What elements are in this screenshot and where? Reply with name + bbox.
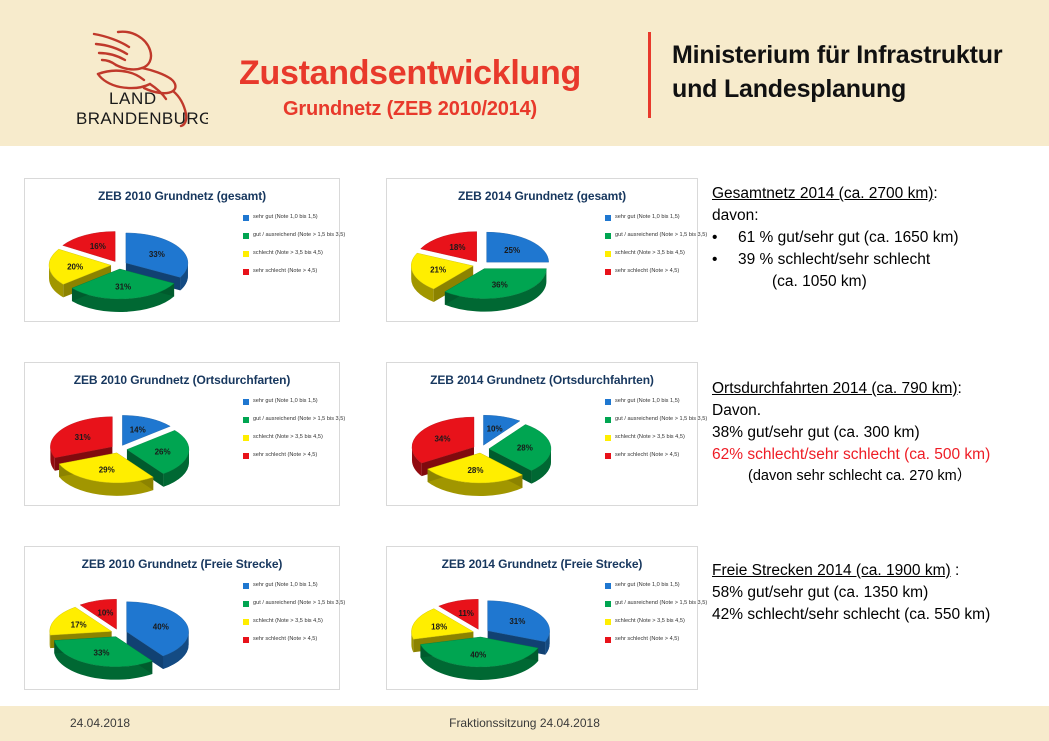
pie-data-label: 31% xyxy=(115,282,131,291)
legend-item-sehr-gut[interactable]: sehr gut (Note 1,0 bis 1,5) xyxy=(605,581,725,589)
legend-swatch-icon xyxy=(243,453,249,459)
legend-item-gut-ausreichend[interactable]: gut / ausreichend (Note > 1,5 bis 3,5) xyxy=(243,599,363,607)
note-ortsdurchfahrten-davon: Davon. xyxy=(712,400,1042,422)
pie-data-label: 14% xyxy=(130,426,146,435)
chart-legend: sehr gut (Note 1,0 bis 1,5)gut / ausreic… xyxy=(243,581,363,653)
brandenburg-logo: LAND BRANDENBURG xyxy=(76,22,208,134)
legend-label: schlecht (Note > 3,5 bis 4,5) xyxy=(253,433,323,441)
chart-card-1: ZEB 2014 Grundnetz (gesamt)25%36%21%18%s… xyxy=(386,178,698,322)
ministry-line-2: und Landesplanung xyxy=(672,72,1042,106)
legend-label: gut / ausreichend (Note > 1,5 bis 3,5) xyxy=(253,231,345,239)
pie-data-label: 34% xyxy=(434,435,450,444)
legend-label: sehr schlecht (Note > 4,5) xyxy=(253,635,317,643)
note-freie-strecken: Freie Strecken 2014 (ca. 1900 km) : 58% … xyxy=(712,560,1042,626)
pie-data-label: 10% xyxy=(97,609,113,618)
legend-swatch-icon xyxy=(243,233,249,239)
chart-card-3: ZEB 2014 Grundnetz (Ortsdurchfahrten)10%… xyxy=(386,362,698,506)
pie-data-label: 28% xyxy=(517,444,533,453)
pie-data-label: 10% xyxy=(487,425,503,434)
legend-item-sehr-gut[interactable]: sehr gut (Note 1,0 bis 1,5) xyxy=(243,213,363,221)
legend-item-schlecht[interactable]: schlecht (Note > 3,5 bis 4,5) xyxy=(605,617,725,625)
legend-label: sehr gut (Note 1,0 bis 1,5) xyxy=(253,581,318,589)
pie-chart: 33%31%20%16% xyxy=(31,209,237,324)
pie-chart: 14%26%29%31% xyxy=(31,393,237,508)
chart-card-2: ZEB 2010 Grundnetz (Ortsdurchfarten)14%2… xyxy=(24,362,340,506)
pie-data-label: 31% xyxy=(509,617,525,626)
legend-swatch-icon xyxy=(605,619,611,625)
header-bottom-rule xyxy=(0,146,1049,149)
pie-data-label: 18% xyxy=(431,622,447,631)
legend-swatch-icon xyxy=(605,251,611,257)
pie-chart: 10%28%28%34% xyxy=(393,393,599,508)
chart-legend: sehr gut (Note 1,0 bis 1,5)gut / ausreic… xyxy=(243,213,363,285)
legend-item-sehr-schlecht[interactable]: sehr schlecht (Note > 4,5) xyxy=(605,267,725,275)
legend-swatch-icon xyxy=(243,435,249,441)
legend-item-schlecht[interactable]: schlecht (Note > 3,5 bis 4,5) xyxy=(605,433,725,441)
bullet-icon: • xyxy=(712,227,738,249)
legend-label: schlecht (Note > 3,5 bis 4,5) xyxy=(615,433,685,441)
legend-item-sehr-schlecht[interactable]: sehr schlecht (Note > 4,5) xyxy=(605,635,725,643)
legend-label: sehr schlecht (Note > 4,5) xyxy=(615,451,679,459)
note-gesamtnetz-heading-text: Gesamtnetz 2014 (ca. 2700 km) xyxy=(712,185,933,202)
logo-line2: BRANDENBURG xyxy=(76,109,208,128)
legend-swatch-icon xyxy=(605,435,611,441)
chart-title: ZEB 2014 Grundnetz (Freie Strecke) xyxy=(387,557,697,571)
note-ortsdurchfahrten-line-2: 62% schlecht/sehr schlecht (ca. 500 km) xyxy=(712,444,1042,466)
legend-label: sehr gut (Note 1,0 bis 1,5) xyxy=(615,213,680,221)
chart-legend: sehr gut (Note 1,0 bis 1,5)gut / ausreic… xyxy=(605,213,725,285)
legend-item-sehr-schlecht[interactable]: sehr schlecht (Note > 4,5) xyxy=(243,267,363,275)
legend-swatch-icon xyxy=(243,215,249,221)
note-ortsdurchfahrten-colon: : xyxy=(958,380,962,397)
chart-legend: sehr gut (Note 1,0 bis 1,5)gut / ausreic… xyxy=(605,397,725,469)
legend-label: schlecht (Note > 3,5 bis 4,5) xyxy=(253,617,323,625)
note-freie-strecken-line-1: 58% gut/sehr gut (ca. 1350 km) xyxy=(712,582,1042,604)
pie-data-label: 26% xyxy=(155,448,171,457)
pie-data-label: 21% xyxy=(430,266,446,275)
legend-item-gut-ausreichend[interactable]: gut / ausreichend (Note > 1,5 bis 3,5) xyxy=(605,415,725,423)
pie-data-label: 20% xyxy=(67,262,83,271)
slide-title: Zustandsentwicklung xyxy=(200,56,620,92)
legend-label: sehr gut (Note 1,0 bis 1,5) xyxy=(253,213,318,221)
pie-data-label: 18% xyxy=(449,243,465,252)
legend-item-sehr-gut[interactable]: sehr gut (Note 1,0 bis 1,5) xyxy=(605,213,725,221)
legend-swatch-icon xyxy=(605,583,611,589)
chart-title: ZEB 2014 Grundnetz (gesamt) xyxy=(387,189,697,203)
legend-label: gut / ausreichend (Note > 1,5 bis 3,5) xyxy=(615,231,707,239)
legend-item-gut-ausreichend[interactable]: gut / ausreichend (Note > 1,5 bis 3,5) xyxy=(605,231,725,239)
legend-swatch-icon xyxy=(605,269,611,275)
note-freie-strecken-colon: : xyxy=(951,562,960,579)
legend-swatch-icon xyxy=(605,399,611,405)
slide-title-block: Zustandsentwicklung Grundnetz (ZEB 2010/… xyxy=(200,56,620,121)
note-gesamtnetz-colon: : xyxy=(933,185,937,202)
legend-item-sehr-schlecht[interactable]: sehr schlecht (Note > 4,5) xyxy=(605,451,725,459)
legend-label: schlecht (Note > 3,5 bis 4,5) xyxy=(615,617,685,625)
legend-item-gut-ausreichend[interactable]: gut / ausreichend (Note > 1,5 bis 3,5) xyxy=(243,231,363,239)
chart-legend: sehr gut (Note 1,0 bis 1,5)gut / ausreic… xyxy=(605,581,725,653)
legend-item-schlecht[interactable]: schlecht (Note > 3,5 bis 4,5) xyxy=(243,433,363,441)
legend-label: gut / ausreichend (Note > 1,5 bis 3,5) xyxy=(253,415,345,423)
legend-item-sehr-gut[interactable]: sehr gut (Note 1,0 bis 1,5) xyxy=(605,397,725,405)
legend-label: schlecht (Note > 3,5 bis 4,5) xyxy=(253,249,323,257)
ministry-name: Ministerium für Infrastruktur und Landes… xyxy=(672,38,1042,106)
chart-card-0: ZEB 2010 Grundnetz (gesamt)33%31%20%16%s… xyxy=(24,178,340,322)
pie-data-label: 11% xyxy=(458,609,474,618)
legend-swatch-icon xyxy=(243,637,249,643)
pie-data-label: 28% xyxy=(467,466,483,475)
legend-swatch-icon xyxy=(605,453,611,459)
footer-event: Fraktionssitzung 24.04.2018 xyxy=(0,716,1049,730)
chart-card-5: ZEB 2014 Grundnetz (Freie Strecke)31%40%… xyxy=(386,546,698,690)
legend-swatch-icon xyxy=(243,601,249,607)
pie-chart: 40%33%17%10% xyxy=(31,577,237,692)
legend-swatch-icon xyxy=(605,601,611,607)
chart-title: ZEB 2010 Grundnetz (Freie Strecke) xyxy=(25,557,339,571)
note-freie-strecken-heading: Freie Strecken 2014 (ca. 1900 km) : xyxy=(712,560,1042,582)
legend-swatch-icon xyxy=(605,417,611,423)
legend-swatch-icon xyxy=(243,399,249,405)
legend-item-sehr-gut[interactable]: sehr gut (Note 1,0 bis 1,5) xyxy=(243,397,363,405)
pie-data-label: 25% xyxy=(504,246,520,255)
pie-data-label: 36% xyxy=(492,280,508,289)
note-gesamtnetz-heading: Gesamtnetz 2014 (ca. 2700 km): xyxy=(712,183,1042,205)
note-gesamtnetz-bullet-1-text: 61 % gut/sehr gut (ca. 1650 km) xyxy=(738,227,959,249)
legend-label: gut / ausreichend (Note > 1,5 bis 3,5) xyxy=(615,599,707,607)
legend-label: sehr schlecht (Note > 4,5) xyxy=(615,635,679,643)
pie-data-label: 40% xyxy=(153,622,169,631)
legend-item-schlecht[interactable]: schlecht (Note > 3,5 bis 4,5) xyxy=(243,617,363,625)
chart-title: ZEB 2010 Grundnetz (gesamt) xyxy=(25,189,339,203)
slide-header: LAND BRANDENBURG Zustandsentwicklung Gru… xyxy=(0,0,1049,146)
note-gesamtnetz-bullet-2-cont: (ca. 1050 km) xyxy=(712,271,1042,293)
legend-swatch-icon xyxy=(243,417,249,423)
note-gesamtnetz-bullet-1: • 61 % gut/sehr gut (ca. 1650 km) xyxy=(712,227,1042,249)
note-ortsdurchfahrten-heading-text: Ortsdurchfahrten 2014 (ca. 790 km) xyxy=(712,380,958,397)
legend-label: sehr schlecht (Note > 4,5) xyxy=(253,451,317,459)
pie-data-label: 31% xyxy=(75,433,91,442)
pie-data-label: 33% xyxy=(94,649,110,658)
note-ortsdurchfahrten-heading: Ortsdurchfahrten 2014 (ca. 790 km): xyxy=(712,378,1042,400)
ministry-line-1: Ministerium für Infrastruktur xyxy=(672,38,1042,72)
note-ortsdurchfahrten: Ortsdurchfahrten 2014 (ca. 790 km): Davo… xyxy=(712,378,1042,487)
chart-legend: sehr gut (Note 1,0 bis 1,5)gut / ausreic… xyxy=(243,397,363,469)
legend-swatch-icon xyxy=(605,233,611,239)
chart-title: ZEB 2010 Grundnetz (Ortsdurchfarten) xyxy=(25,373,339,387)
legend-label: schlecht (Note > 3,5 bis 4,5) xyxy=(615,249,685,257)
pie-data-label: 17% xyxy=(71,621,87,630)
legend-item-schlecht[interactable]: schlecht (Note > 3,5 bis 4,5) xyxy=(243,249,363,257)
bullet-icon: • xyxy=(712,249,738,271)
note-ortsdurchfahrten-line-3: (davon sehr schlecht ca. 270 km） xyxy=(712,466,1042,487)
legend-item-gut-ausreichend[interactable]: gut / ausreichend (Note > 1,5 bis 3,5) xyxy=(243,415,363,423)
pie-data-label: 33% xyxy=(149,250,165,259)
note-gesamtnetz-davon: davon: xyxy=(712,205,1042,227)
pie-chart: 25%36%21%18% xyxy=(393,209,599,324)
pie-chart: 31%40%18%11% xyxy=(393,577,599,692)
note-ortsdurchfahrten-line-1: 38% gut/sehr gut (ca. 300 km) xyxy=(712,422,1042,444)
legend-label: gut / ausreichend (Note > 1,5 bis 3,5) xyxy=(253,599,345,607)
legend-item-sehr-gut[interactable]: sehr gut (Note 1,0 bis 1,5) xyxy=(243,581,363,589)
note-freie-strecken-heading-text: Freie Strecken 2014 (ca. 1900 km) xyxy=(712,562,951,579)
note-freie-strecken-line-2: 42% schlecht/sehr schlecht (ca. 550 km) xyxy=(712,604,1042,626)
legend-item-schlecht[interactable]: schlecht (Note > 3,5 bis 4,5) xyxy=(605,249,725,257)
legend-swatch-icon xyxy=(605,637,611,643)
pie-data-label: 40% xyxy=(470,650,486,659)
legend-swatch-icon xyxy=(243,269,249,275)
legend-item-gut-ausreichend[interactable]: gut / ausreichend (Note > 1,5 bis 3,5) xyxy=(605,599,725,607)
legend-label: sehr gut (Note 1,0 bis 1,5) xyxy=(615,581,680,589)
pie-data-label: 29% xyxy=(99,466,115,475)
legend-item-sehr-schlecht[interactable]: sehr schlecht (Note > 4,5) xyxy=(243,451,363,459)
legend-swatch-icon xyxy=(243,619,249,625)
legend-label: sehr gut (Note 1,0 bis 1,5) xyxy=(253,397,318,405)
note-gesamtnetz-bullet-2: • 39 % schlecht/sehr schlecht xyxy=(712,249,1042,271)
chart-card-4: ZEB 2010 Grundnetz (Freie Strecke)40%33%… xyxy=(24,546,340,690)
slide-footer: 24.04.2018 Fraktionssitzung 24.04.2018 xyxy=(0,706,1049,741)
brandenburg-eagle-icon: LAND BRANDENBURG xyxy=(76,22,208,134)
legend-label: gut / ausreichend (Note > 1,5 bis 3,5) xyxy=(615,415,707,423)
legend-swatch-icon xyxy=(605,215,611,221)
slide-subtitle: Grundnetz (ZEB 2010/2014) xyxy=(200,98,620,121)
legend-label: sehr schlecht (Note > 4,5) xyxy=(253,267,317,275)
note-gesamtnetz: Gesamtnetz 2014 (ca. 2700 km): davon: • … xyxy=(712,183,1042,293)
header-divider xyxy=(648,32,651,118)
legend-label: sehr gut (Note 1,0 bis 1,5) xyxy=(615,397,680,405)
chart-title: ZEB 2014 Grundnetz (Ortsdurchfahrten) xyxy=(387,373,697,387)
pie-data-label: 16% xyxy=(90,242,106,251)
note-gesamtnetz-bullet-2-text: 39 % schlecht/sehr schlecht xyxy=(738,249,930,271)
legend-label: sehr schlecht (Note > 4,5) xyxy=(615,267,679,275)
legend-item-sehr-schlecht[interactable]: sehr schlecht (Note > 4,5) xyxy=(243,635,363,643)
legend-swatch-icon xyxy=(243,583,249,589)
logo-line1: LAND xyxy=(109,89,157,108)
legend-swatch-icon xyxy=(243,251,249,257)
